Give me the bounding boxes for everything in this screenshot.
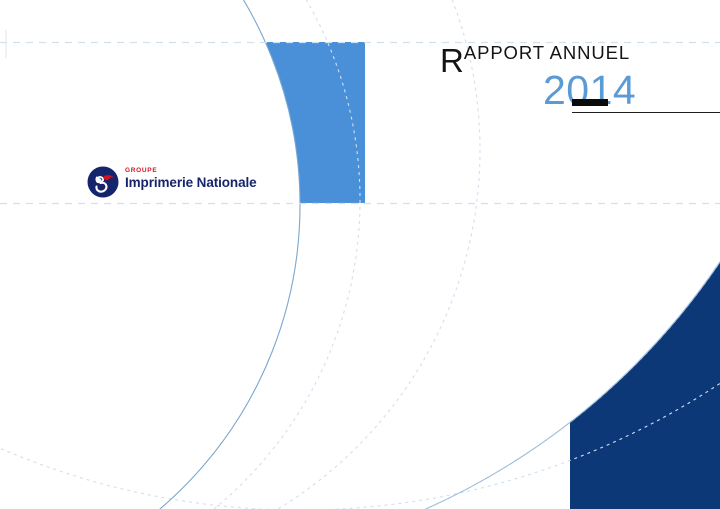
title-block: RAPPORT ANNUEL 2014 <box>440 44 720 124</box>
logo: GROUPE Imprimerie Nationale <box>87 164 267 202</box>
logo-groupe-label: GROUPE <box>125 168 265 175</box>
logo-text: GROUPE Imprimerie Nationale <box>125 168 265 190</box>
annual-report-cover: RAPPORT ANNUEL 2014 GROUPE Imprimerie Na… <box>0 0 720 509</box>
navy-panel <box>500 203 720 509</box>
logo-company-name: Imprimerie Nationale <box>125 176 265 190</box>
headline-remainder: APPORT ANNUEL <box>464 42 630 63</box>
imprimerie-nationale-monogram-icon <box>87 166 119 198</box>
horizontal-rule <box>572 112 720 113</box>
headline-initial-letter: R <box>440 42 464 79</box>
accent-bar <box>572 99 608 106</box>
